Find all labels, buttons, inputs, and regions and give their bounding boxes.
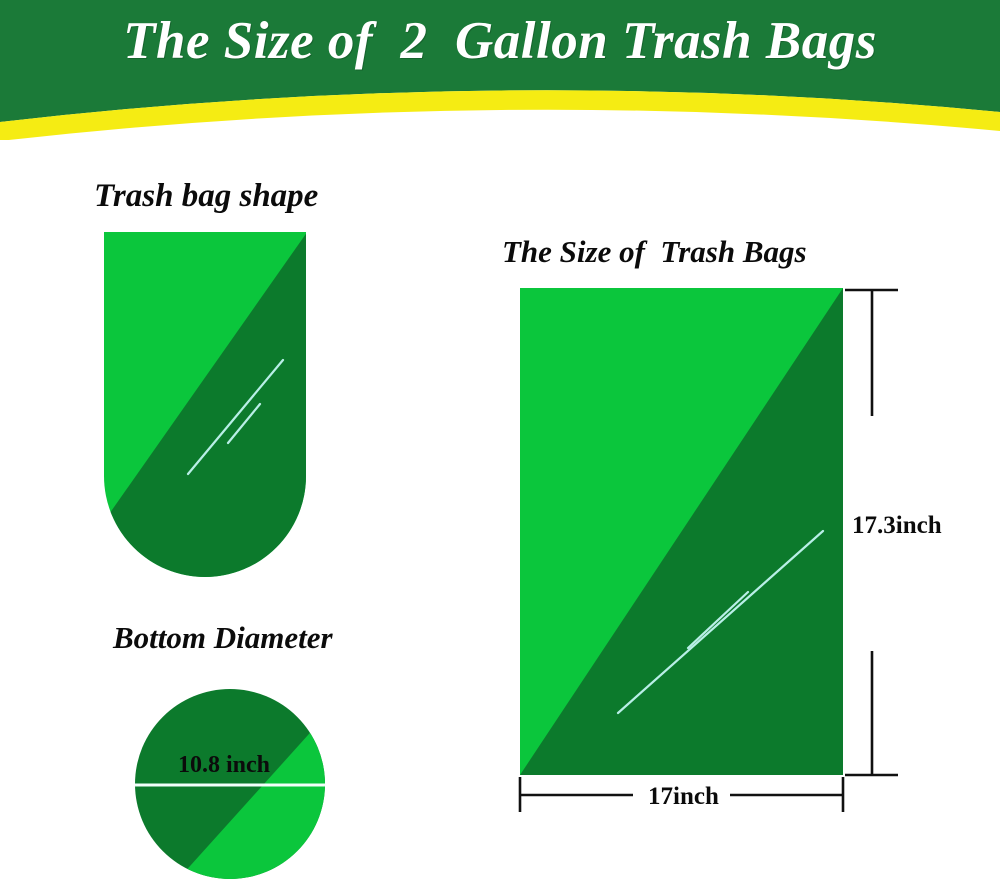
bag-height-value: 17.3inch <box>852 512 942 540</box>
heading-trash-bag-size: The Size of Trash Bags <box>502 234 807 270</box>
page-title: The Size of 2 Gallon Trash Bags <box>0 12 1000 70</box>
bag-width-value: 17inch <box>648 783 719 811</box>
flat-bag-size-figure <box>498 276 918 821</box>
infographic-page: The Size of 2 Gallon Trash Bags Trash ba… <box>0 0 1000 883</box>
trash-bag-shape-figure <box>100 228 310 584</box>
heading-bottom-diameter: Bottom Diameter <box>113 620 333 656</box>
header-banner: The Size of 2 Gallon Trash Bags <box>0 0 1000 140</box>
bottom-diameter-figure <box>132 686 336 883</box>
heading-trash-bag-shape: Trash bag shape <box>94 178 318 215</box>
bottom-diameter-value: 10.8 inch <box>178 752 270 779</box>
